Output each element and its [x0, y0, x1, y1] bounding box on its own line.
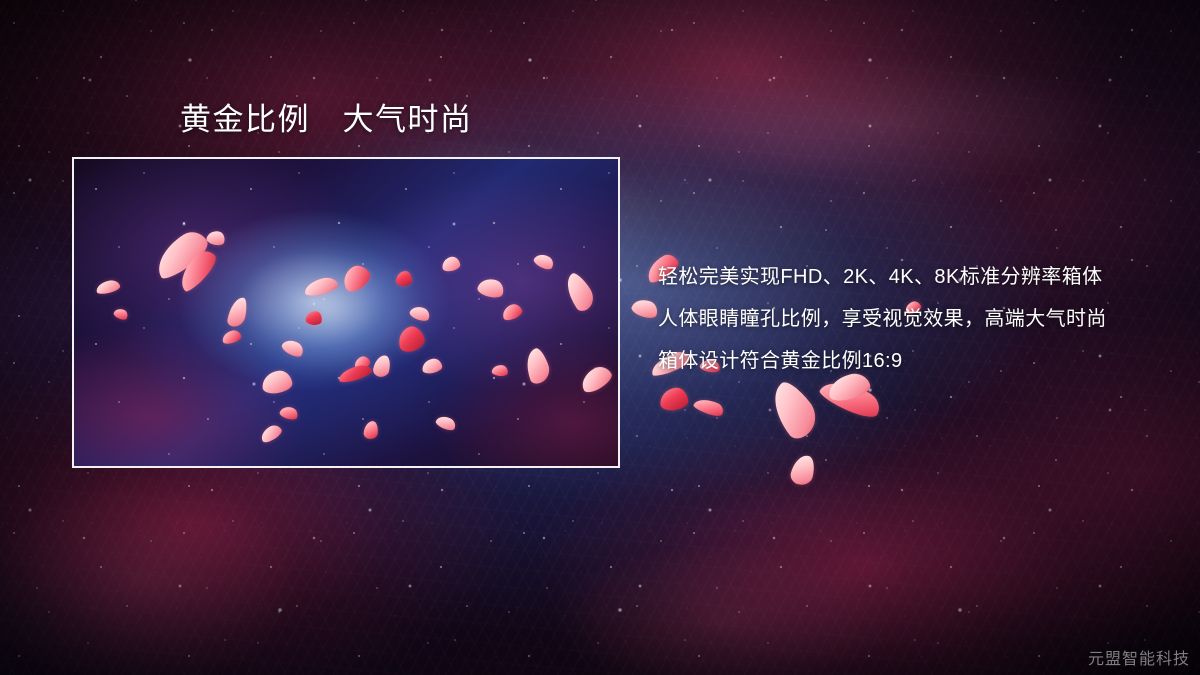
photo-starfield-bright [74, 159, 618, 466]
description-line: 箱体设计符合黄金比例16:9 [658, 340, 1168, 382]
framed-product-image [72, 157, 620, 468]
description-line: 轻松完美实现FHD、2K、4K、8K标准分辨率箱体 [658, 256, 1168, 298]
watermark-brand: 元盟智能科技 [1088, 645, 1190, 669]
description-block: 轻松完美实现FHD、2K、4K、8K标准分辨率箱体 人体眼睛瞳孔比例，享受视觉效… [658, 256, 1168, 382]
description-line: 人体眼睛瞳孔比例，享受视觉效果，高端大气时尚 [658, 298, 1168, 340]
presentation-slide: 黄金比例 大气时尚 轻松完美实现FHD、2K、4K、8K标准分辨率箱体 人体眼睛… [0, 0, 1200, 675]
page-title: 黄金比例 大气时尚 [180, 101, 473, 140]
